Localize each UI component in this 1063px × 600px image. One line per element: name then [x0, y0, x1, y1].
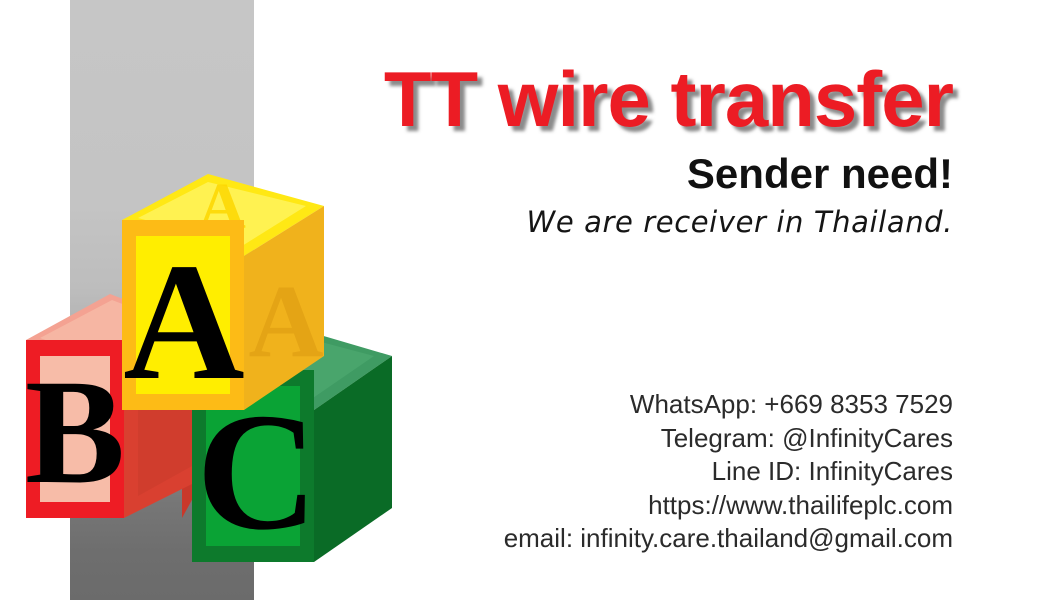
svg-text:A: A: [248, 264, 323, 379]
tagline: We are receiver in Thailand.: [93, 203, 953, 241]
contact-block: WhatsApp: +669 8353 7529 Telegram: @Infi…: [93, 388, 953, 556]
contact-line-id[interactable]: Line ID: InfinityCares: [93, 455, 953, 489]
contact-telegram[interactable]: Telegram: @InfinityCares: [93, 422, 953, 456]
contact-email[interactable]: email: infinity.care.thailand@gmail.com: [93, 522, 953, 556]
poster-canvas: B C C A: [0, 0, 1063, 600]
page-title: TT wire transfer: [93, 58, 953, 140]
subtitle: Sender need!: [93, 150, 953, 198]
contact-website[interactable]: https://www.thailifeplc.com: [93, 489, 953, 523]
contact-whatsapp[interactable]: WhatsApp: +669 8353 7529: [93, 388, 953, 422]
